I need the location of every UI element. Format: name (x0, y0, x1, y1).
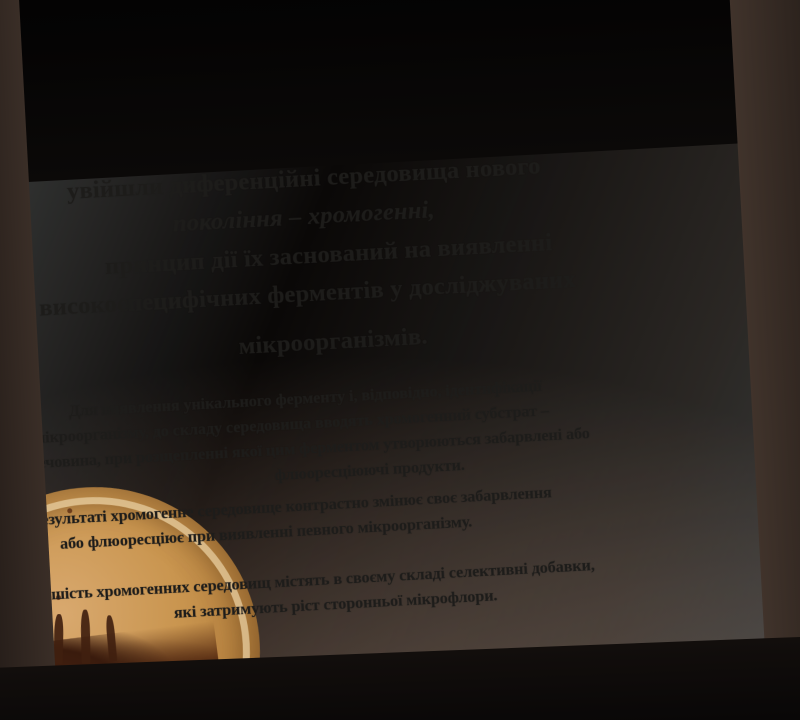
lecture-photo: В кінці ХХ століття в мікробіологічну пр… (0, 0, 800, 720)
title-line-3: покоління – хромогенні, (172, 196, 435, 238)
paragraph-1-line-4: флюоресціюючі продукти. (274, 456, 465, 485)
title-line-6: мікроорганізмів. (238, 323, 428, 361)
